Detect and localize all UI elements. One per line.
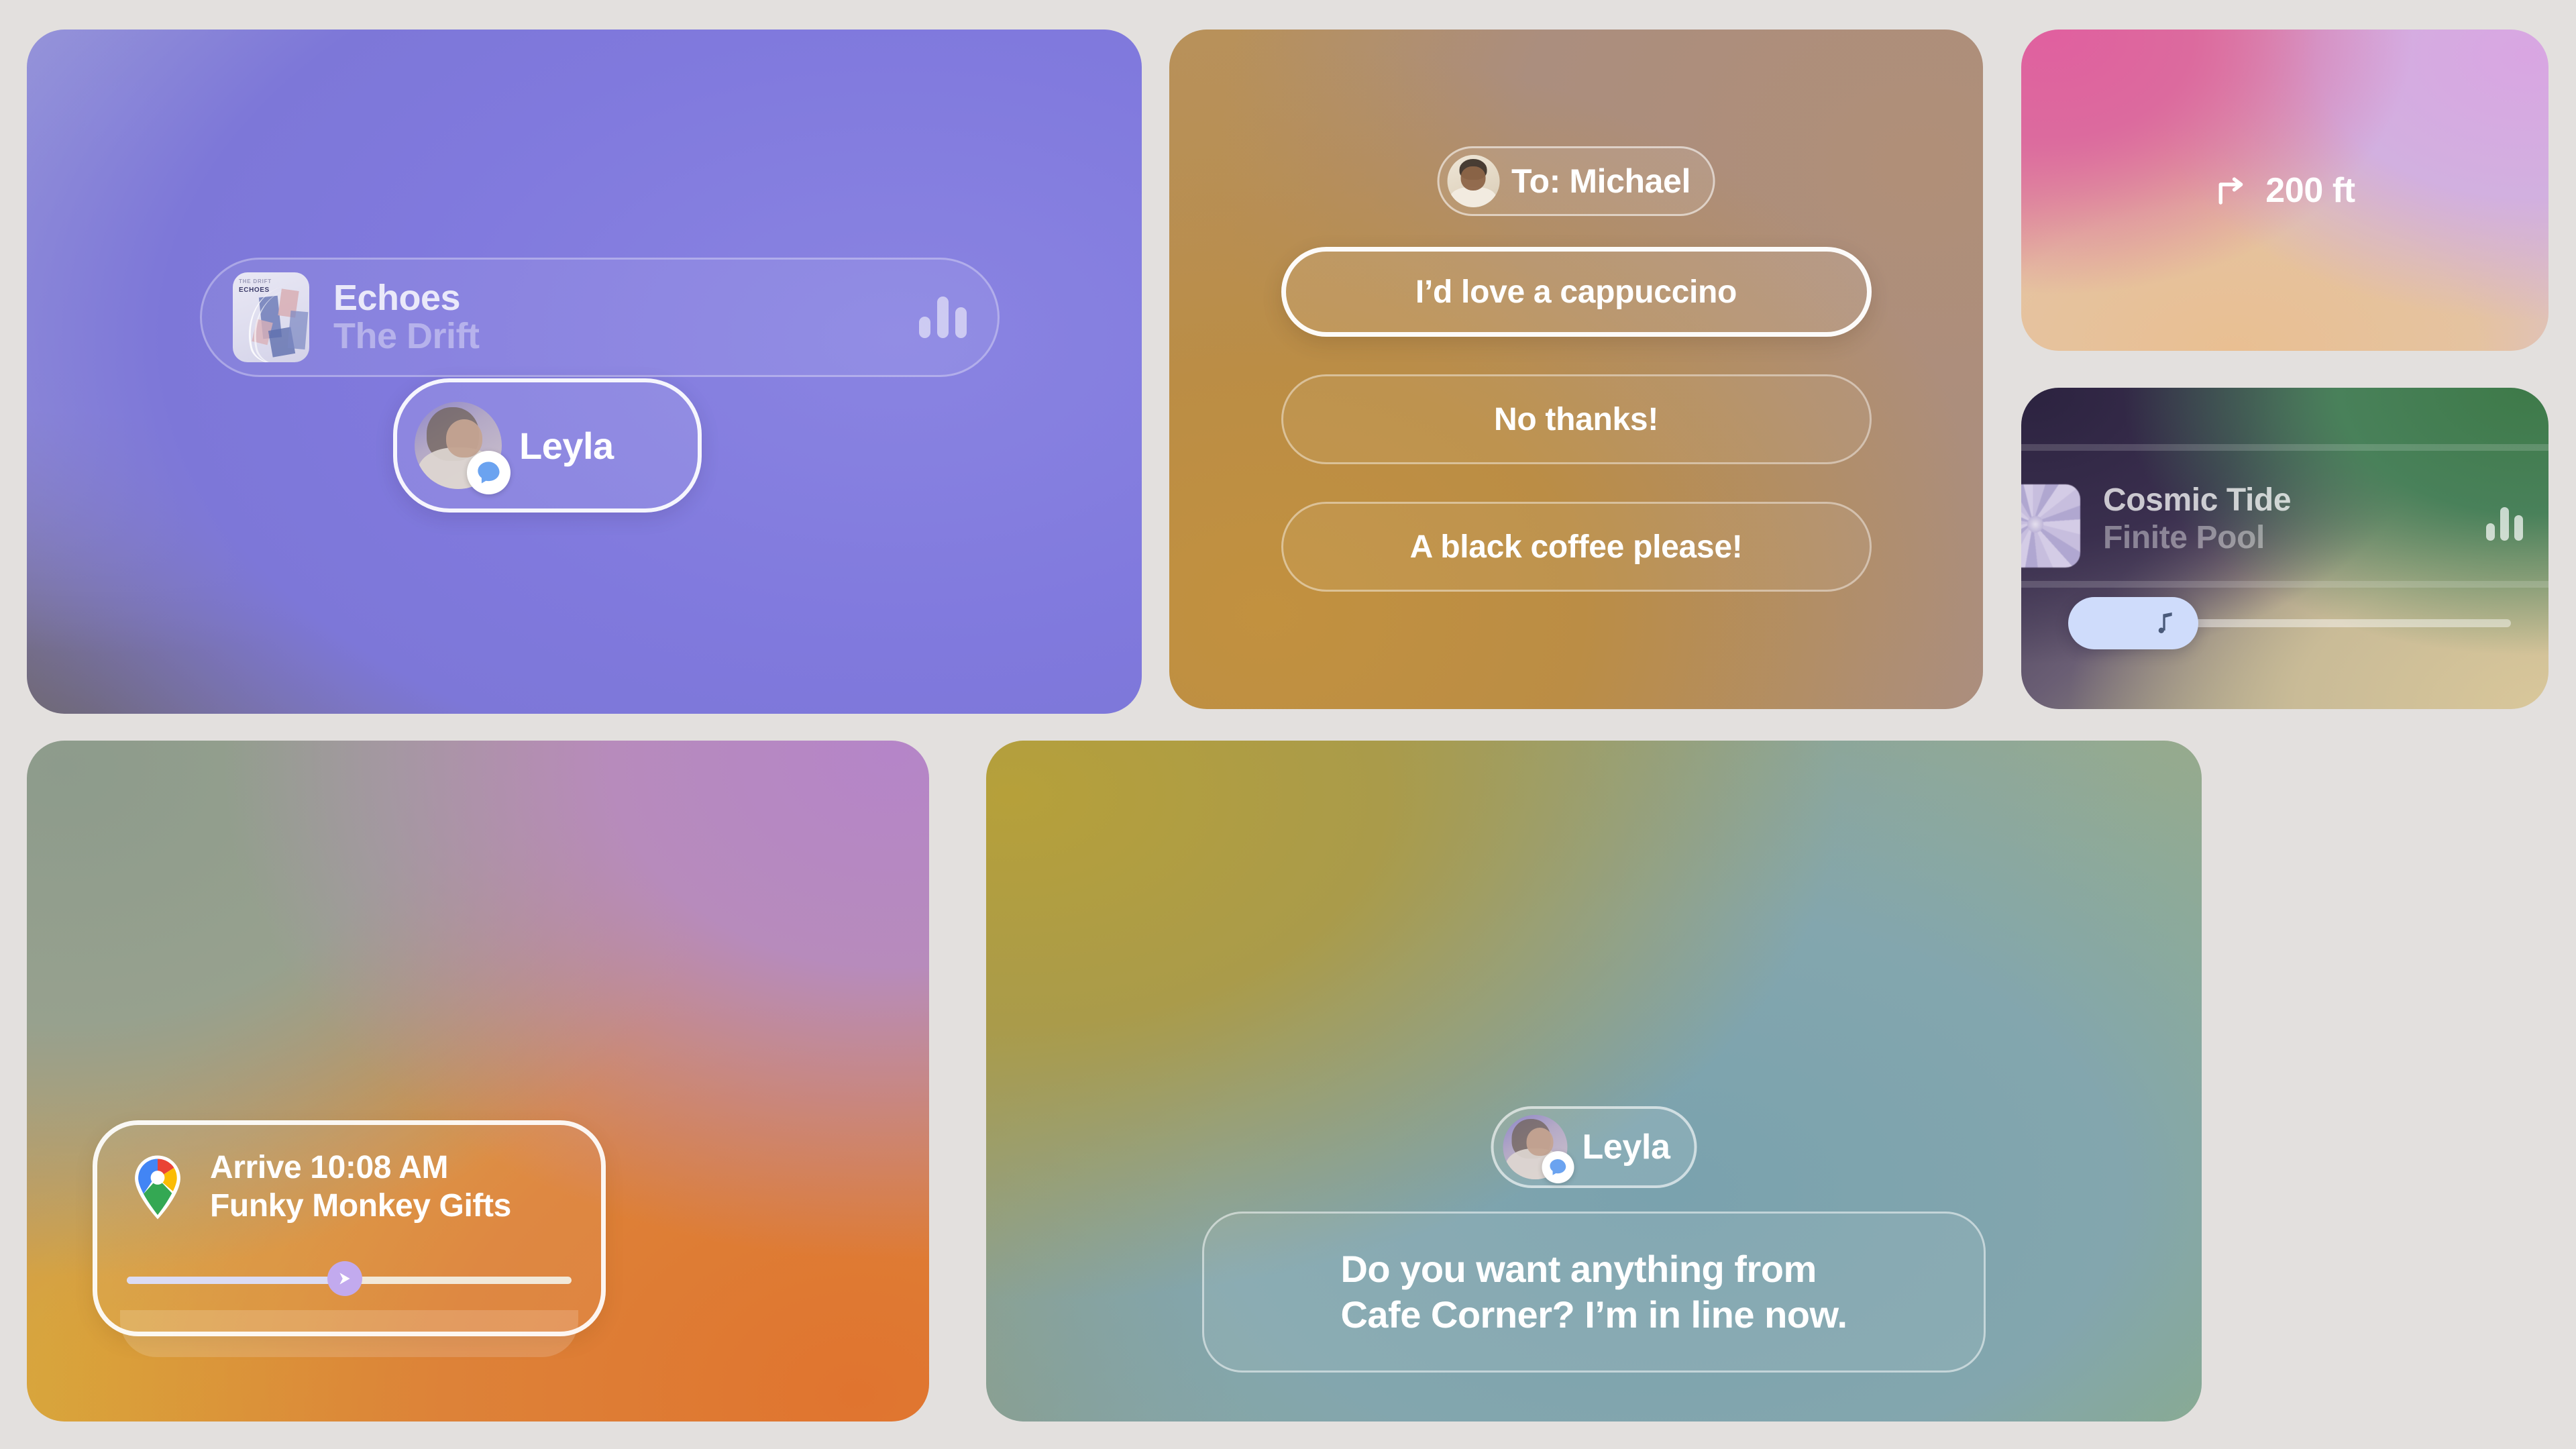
now-playing-text: Echoes The Drift	[333, 279, 906, 356]
turn-right-icon	[2214, 172, 2251, 209]
message-bubble[interactable]: Do you want anything from Cafe Corner? I…	[1202, 1212, 1986, 1373]
panel-smart-replies: To: Michael I’d love a cappuccino No tha…	[1169, 30, 1983, 709]
divider	[2021, 581, 2548, 588]
eta-time: Arrive 10:08 AM	[210, 1149, 511, 1187]
album-art: THE DRIFT ECHOES	[233, 272, 309, 362]
eta-header: Arrive 10:08 AM Funky Monkey Gifts	[127, 1149, 572, 1225]
slider-fill	[127, 1277, 345, 1284]
google-messages-icon	[1542, 1151, 1574, 1183]
track-title: Cosmic Tide	[2103, 482, 2291, 519]
contact-name: Leyla	[519, 424, 614, 468]
seek-handle[interactable]	[2068, 597, 2198, 649]
track-artist: Finite Pool	[2103, 519, 2291, 557]
sender-name: Leyla	[1582, 1127, 1670, 1167]
divider	[2021, 444, 2548, 451]
widget-wall: THE DRIFT ECHOES Echoes The Drift	[0, 0, 2576, 1449]
reply-option[interactable]: A black coffee please!	[1281, 502, 1872, 592]
message-text: Do you want anything from Cafe Corner? I…	[1340, 1246, 1847, 1338]
reply-option[interactable]: I’d love a cappuccino	[1281, 247, 1872, 337]
slider-thumb[interactable]	[327, 1261, 362, 1296]
navigation-eta-card[interactable]: Arrive 10:08 AM Funky Monkey Gifts	[93, 1120, 606, 1336]
route-progress-slider[interactable]	[127, 1273, 572, 1287]
navigation-maneuver: 200 ft	[2214, 170, 2355, 211]
recipient-label: To: Michael	[1511, 162, 1690, 201]
cosmic-text: Cosmic Tide Finite Pool	[2103, 482, 2291, 556]
track-artist: The Drift	[333, 317, 906, 356]
avatar	[1503, 1115, 1568, 1179]
equalizer-icon	[2486, 507, 2523, 541]
album-art-artist-label: THE DRIFT	[239, 278, 272, 284]
avatar	[415, 402, 502, 489]
music-note-icon	[2154, 608, 2181, 638]
panel-maps: Arrive 10:08 AM Funky Monkey Gifts 8:32	[27, 741, 929, 1421]
message-line-2: Cafe Corner? I’m in line now.	[1340, 1292, 1847, 1338]
panel-message-thread: Leyla Do you want anything from Cafe Cor…	[986, 741, 2202, 1421]
contact-chip-leyla[interactable]: Leyla	[393, 378, 702, 513]
panel-navigation[interactable]: 200 ft	[2021, 30, 2548, 351]
equalizer-icon	[919, 297, 967, 338]
track-title: Echoes	[333, 279, 906, 317]
google-maps-pin-icon	[127, 1152, 189, 1222]
avatar	[1447, 155, 1499, 207]
sender-chip-leyla[interactable]: Leyla	[1491, 1106, 1697, 1188]
album-art-title-label: ECHOES	[239, 286, 270, 294]
navigation-distance: 200 ft	[2265, 170, 2355, 211]
google-messages-icon	[467, 451, 511, 494]
now-playing-card[interactable]: THE DRIFT ECHOES Echoes The Drift	[200, 258, 1000, 377]
reply-option[interactable]: No thanks!	[1281, 374, 1872, 464]
recipient-chip-michael[interactable]: To: Michael	[1437, 146, 1715, 216]
album-art	[2021, 484, 2080, 568]
panel-now-playing: THE DRIFT ECHOES Echoes The Drift	[27, 30, 1142, 714]
eta-text: Arrive 10:08 AM Funky Monkey Gifts	[210, 1149, 511, 1225]
message-line-1: Do you want anything from	[1340, 1246, 1847, 1292]
destination-name: Funky Monkey Gifts	[210, 1187, 511, 1226]
navigation-arrow-icon	[336, 1270, 354, 1287]
panel-cosmic-tide: Cosmic Tide Finite Pool	[2021, 388, 2548, 709]
